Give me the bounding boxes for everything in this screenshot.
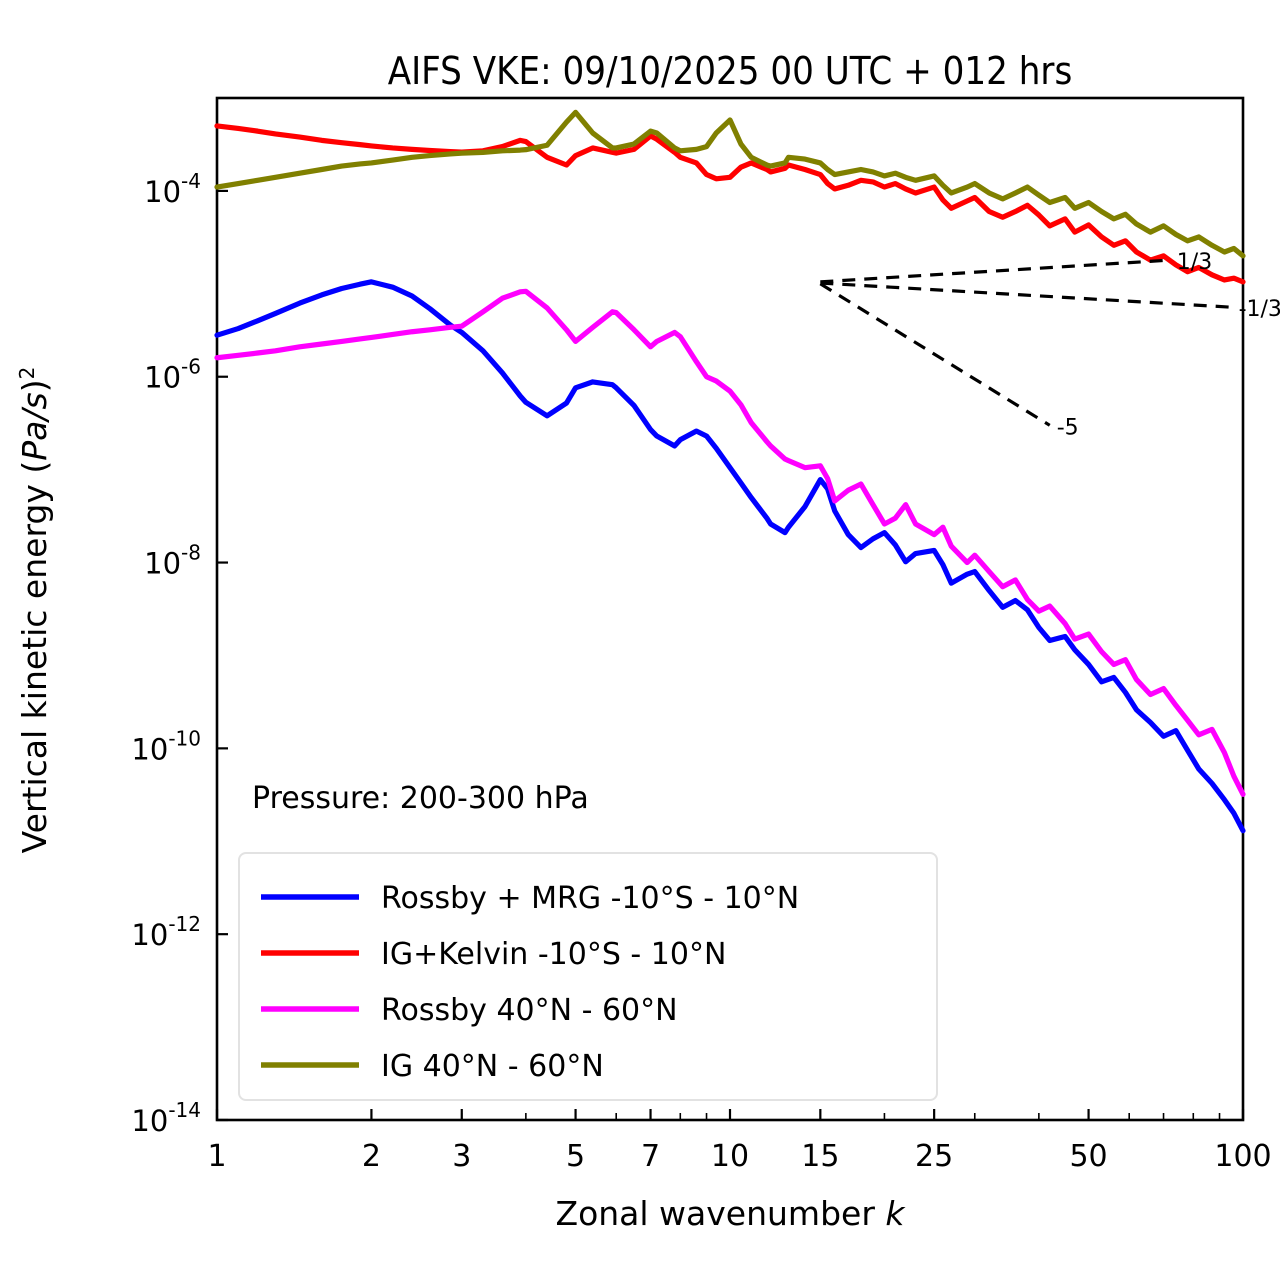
- slope-label: -1/3: [1239, 297, 1280, 322]
- x-tick-label: 2: [362, 1139, 381, 1174]
- x-tick-label: 10: [711, 1139, 749, 1174]
- chart-title: AIFS VKE: 09/10/2025 00 UTC + 012 hrs: [388, 49, 1073, 93]
- x-tick-label: 7: [641, 1139, 660, 1174]
- y-axis-label: Vertical kinetic energy (Pa/s)2: [15, 367, 54, 854]
- x-tick-label: 5: [566, 1139, 585, 1174]
- legend-label-1[interactable]: IG+Kelvin -10°S - 10°N: [381, 937, 726, 972]
- vke-spectrum-figure: AIFS VKE: 09/10/2025 00 UTC + 012 hrs Ve…: [0, 0, 1280, 1288]
- x-tick-label: 100: [1214, 1139, 1271, 1174]
- pressure-annotation: Pressure: 200-300 hPa: [252, 781, 589, 816]
- chart-root: AIFS VKE: 09/10/2025 00 UTC + 012 hrs Ve…: [0, 0, 1280, 1288]
- x-tick-label: 1: [207, 1139, 226, 1174]
- x-axis-label: Zonal wavenumber k: [555, 1194, 906, 1233]
- svg-text:Vertical kinetic energy (Pa/s): Vertical kinetic energy (Pa/s)2: [15, 367, 54, 854]
- legend[interactable]: Rossby + MRG -10°S - 10°NIG+Kelvin -10°S…: [239, 853, 937, 1100]
- slope-label: -5: [1057, 415, 1079, 440]
- legend-label-0[interactable]: Rossby + MRG -10°S - 10°N: [381, 881, 799, 916]
- slope-label: 1/3: [1177, 250, 1212, 275]
- x-tick-label: 25: [915, 1139, 953, 1174]
- legend-label-2[interactable]: Rossby 40°N - 60°N: [381, 993, 678, 1028]
- x-tick-label: 3: [452, 1139, 471, 1174]
- legend-label-3[interactable]: IG 40°N - 60°N: [381, 1049, 604, 1084]
- x-tick-label: 15: [801, 1139, 839, 1174]
- x-tick-label: 50: [1069, 1139, 1107, 1174]
